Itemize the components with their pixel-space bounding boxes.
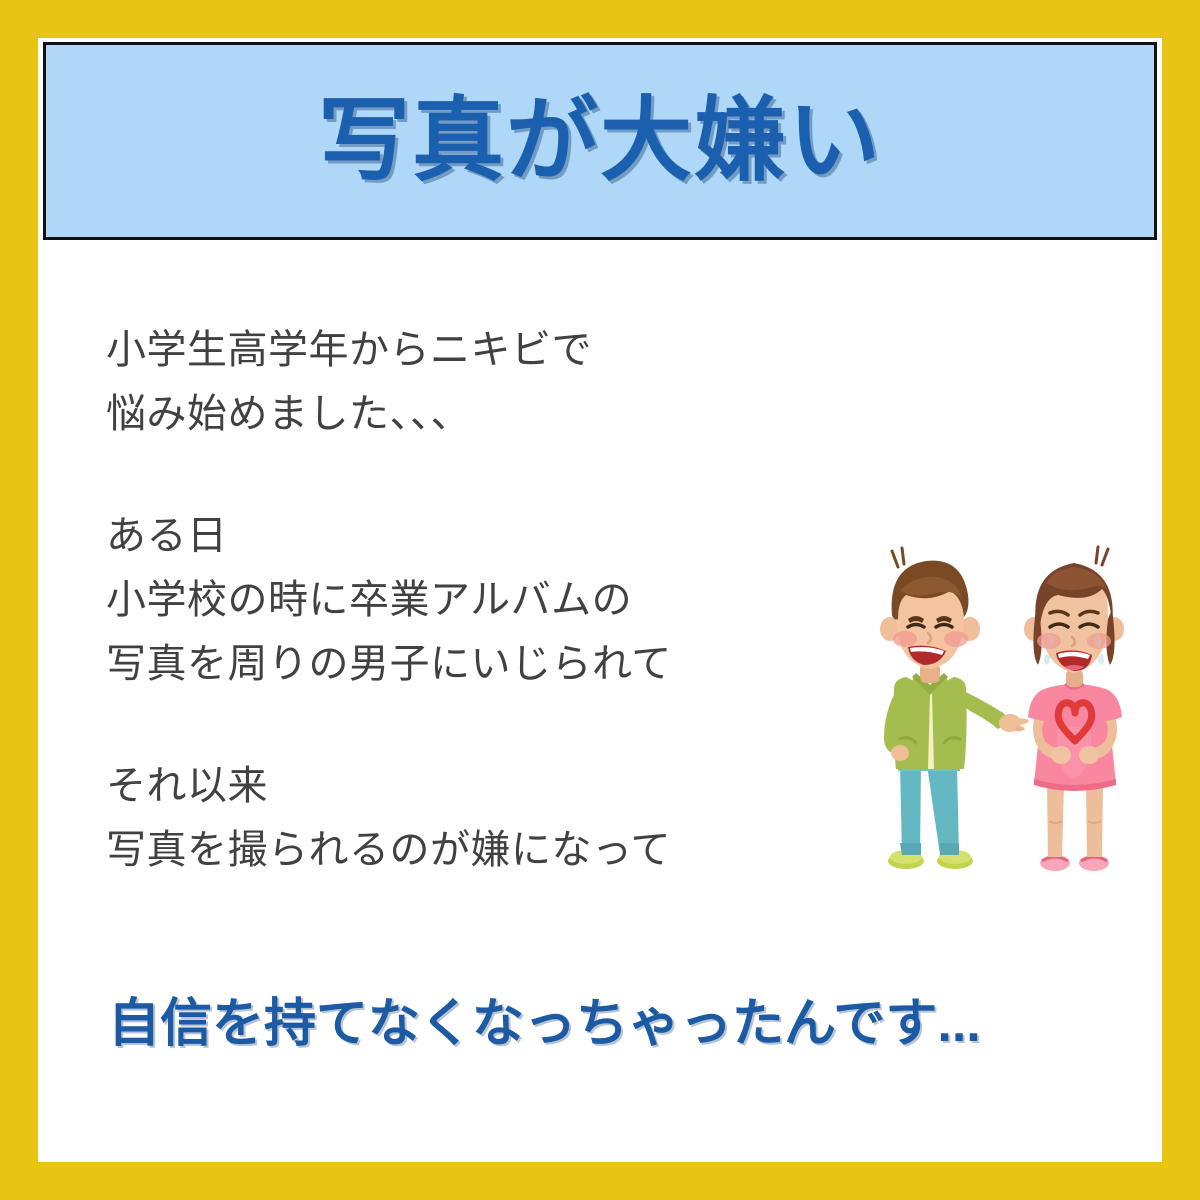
body-line: 悩み始めました、、、	[106, 382, 906, 446]
punchline-text: 自信を持てなくなっちゃったんです...	[108, 993, 981, 1055]
body-line: 写真を撮られるのが嫌になって	[106, 818, 906, 882]
illustration-children	[858, 533, 1158, 878]
body-copy: 小学生高学年からニキビで 悩み始めました、、、 ある日 小学校の時に卒業アルバム…	[106, 318, 906, 882]
body-line: 小学校の時に卒業アルバムの	[106, 568, 906, 632]
body-line: 写真を周りの男子にいじられて	[106, 632, 906, 696]
page-title: 写真が大嫌い	[318, 95, 882, 187]
body-line: ある日	[106, 504, 906, 568]
boy-figure	[880, 548, 1029, 869]
body-line: 小学生高学年からニキビで	[106, 318, 906, 382]
paragraph-2: ある日 小学校の時に卒業アルバムの 写真を周りの男子にいじられて	[106, 504, 906, 696]
title-banner: 写真が大嫌い	[43, 42, 1157, 240]
poster-root: 写真が大嫌い 小学生高学年からニキビで 悩み始めました、、、 ある日 小学校の時…	[0, 0, 1200, 1200]
girl-figure	[1024, 547, 1124, 871]
poster-card: 写真が大嫌い 小学生高学年からニキビで 悩み始めました、、、 ある日 小学校の時…	[38, 38, 1162, 1162]
paragraph-1: 小学生高学年からニキビで 悩み始めました、、、	[106, 318, 906, 446]
body-line: それ以来	[106, 754, 906, 818]
paragraph-3: それ以来 写真を撮られるのが嫌になって	[106, 754, 906, 882]
